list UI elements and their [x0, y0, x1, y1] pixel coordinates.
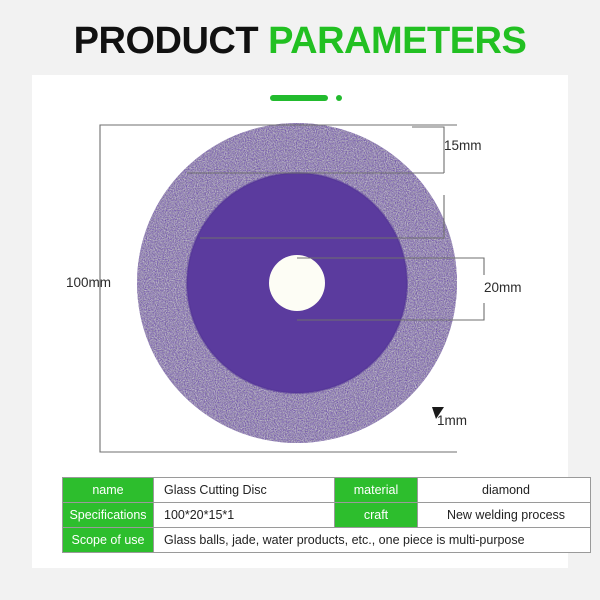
content-card: 100mm 15mm 20mm 1mm name Glass Cutting D…: [32, 75, 568, 568]
spec-label-specifications: Specifications: [63, 503, 154, 528]
disc-center-hole: [269, 255, 325, 311]
table-row: Specifications 100*20*15*1 craft New wel…: [63, 503, 591, 528]
spec-label-scope-of-use: Scope of use: [63, 528, 154, 553]
title-product-word: PRODUCT: [74, 20, 258, 62]
dimension-label-bore-diameter: 20mm: [484, 280, 522, 295]
page-title: PRODUCT PARAMETERS: [0, 22, 600, 60]
table-row: Scope of use Glass balls, jade, water pr…: [63, 528, 591, 553]
title-parameters-word: PARAMETERS: [268, 20, 526, 62]
dimension-label-outer-diameter: 100mm: [66, 275, 111, 290]
spec-value-material: diamond: [418, 478, 591, 503]
spec-value-craft: New welding process: [418, 503, 591, 528]
spec-value-scope-of-use: Glass balls, jade, water products, etc.,…: [154, 528, 591, 553]
product-diagram: 100mm 15mm 20mm 1mm: [32, 75, 568, 465]
spec-label-name: name: [63, 478, 154, 503]
spec-label-craft: craft: [335, 503, 418, 528]
dimension-label-thickness: 1mm: [437, 413, 467, 428]
table-row: name Glass Cutting Disc material diamond: [63, 478, 591, 503]
specification-table: name Glass Cutting Disc material diamond…: [62, 477, 591, 553]
spec-label-material: material: [335, 478, 418, 503]
product-parameters-page: PRODUCT PARAMETERS: [0, 0, 600, 600]
spec-value-name: Glass Cutting Disc: [154, 478, 335, 503]
dimension-label-rim-width: 15mm: [444, 138, 482, 153]
spec-value-specifications: 100*20*15*1: [154, 503, 335, 528]
